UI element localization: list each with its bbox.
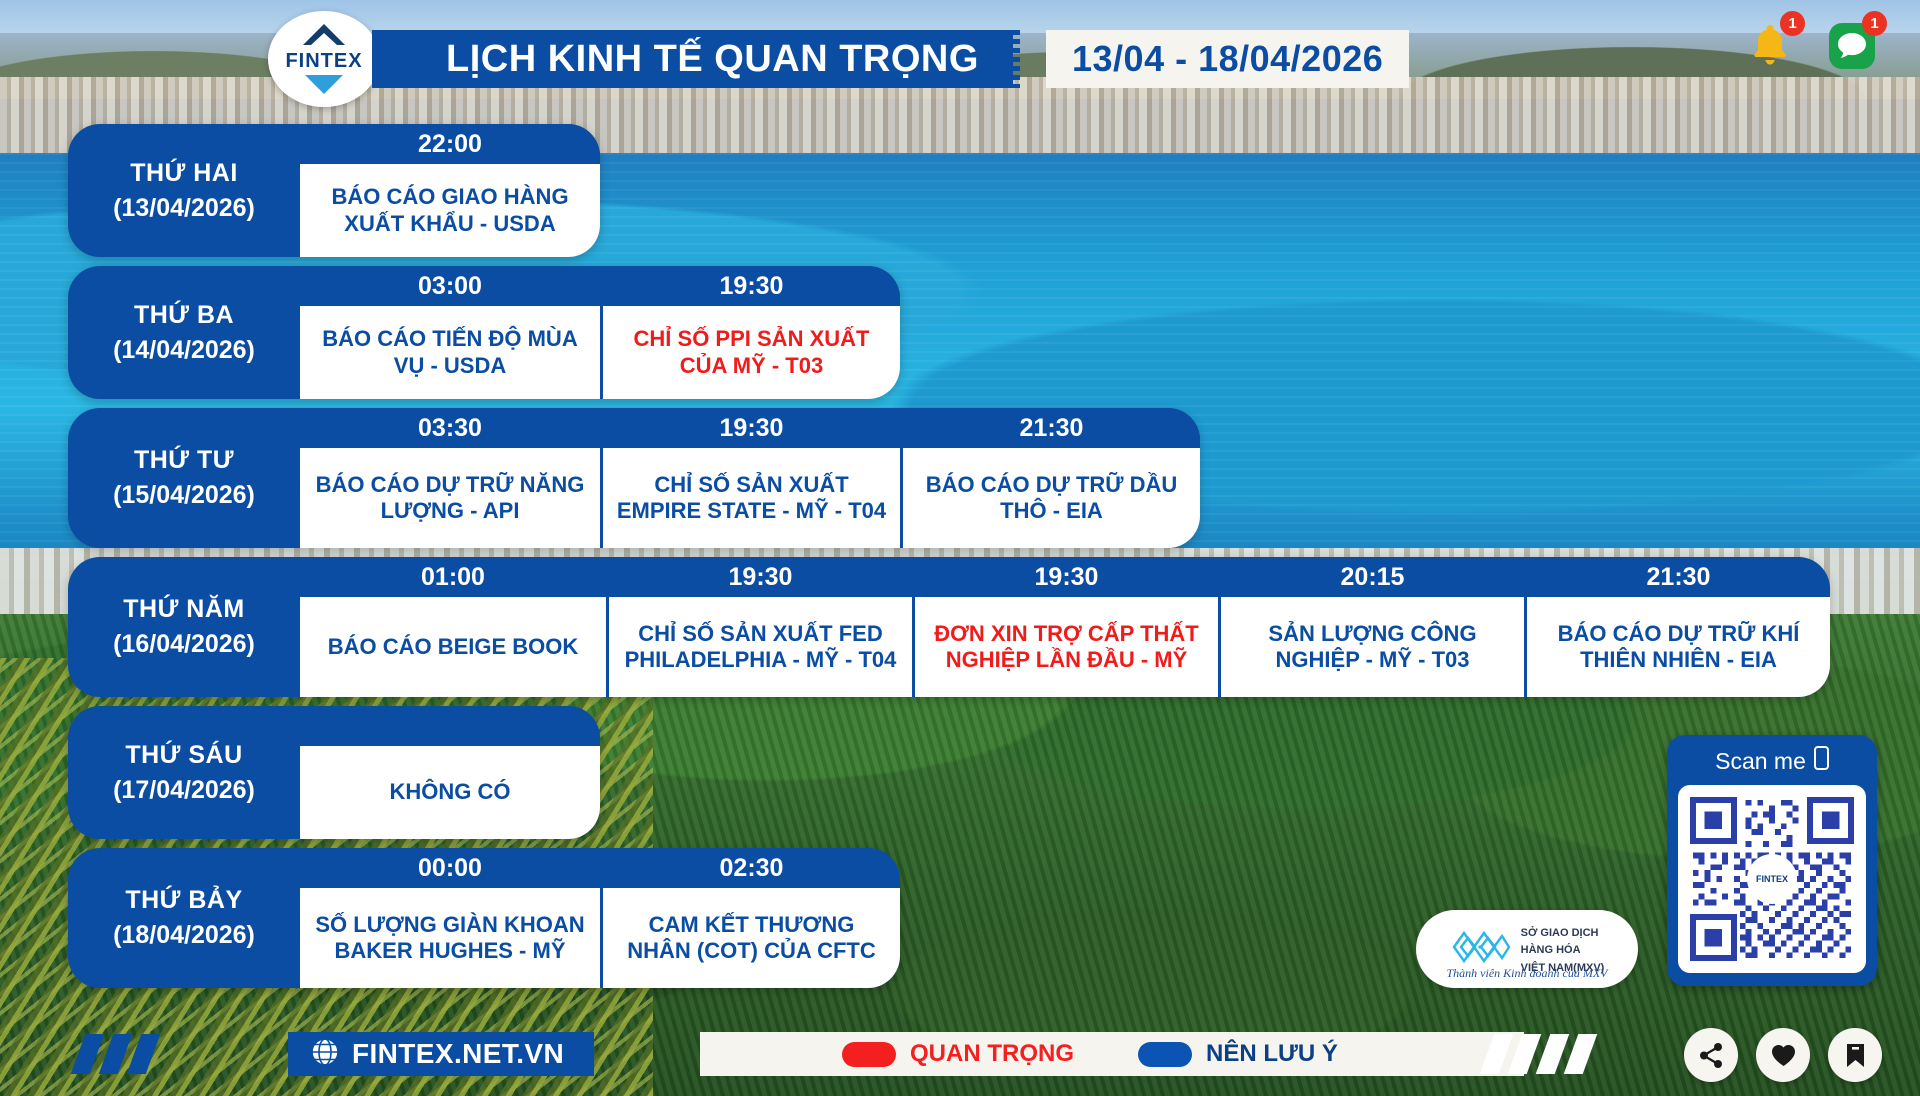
day-events: 03:00 BÁO CÁO TIẾN ĐỘ MÙA VỤ - USDA 19:3… (300, 266, 900, 399)
event-card[interactable]: 21:30 BÁO CÁO DỰ TRỮ DẦU THÔ - EIA (900, 408, 1200, 548)
event-card[interactable]: 03:00 BÁO CÁO TIẾN ĐỘ MÙA VỤ - USDA (300, 266, 600, 399)
economic-calendar-poster: FINTEX LỊCH KINH TẾ QUAN TRỌNG 13/04 - 1… (0, 0, 1920, 1096)
day-date: (17/04/2026) (113, 776, 255, 805)
event-title: BÁO CÁO DỰ TRỮ DẦU THÔ - EIA (903, 448, 1200, 548)
legend-item-notable: NÊN LƯU Ý (1138, 1040, 1338, 1068)
event-card[interactable]: 19:30 CHỈ SỐ SẢN XUẤT EMPIRE STATE - MỸ … (600, 408, 900, 548)
day-name: THỨ NĂM (123, 595, 244, 624)
day-name: THỨ BẢY (125, 886, 242, 915)
legend-swatch-red (842, 1042, 896, 1067)
day-events: 03:30 BÁO CÁO DỰ TRỮ NĂNG LƯỢNG - API 19… (300, 408, 1200, 548)
event-title: BÁO CÁO TIẾN ĐỘ MÙA VỤ - USDA (300, 306, 600, 399)
legend-label-notable: NÊN LƯU Ý (1206, 1040, 1338, 1068)
event-time: 21:30 (1527, 557, 1830, 597)
event-card[interactable]: 20:15 SẢN LƯỢNG CÔNG NGHIỆP - MỸ - T03 (1218, 557, 1524, 697)
day-events: 22:00 BÁO CÁO GIAO HÀNG XUẤT KHẨU - USDA (300, 124, 600, 257)
event-card[interactable]: 22:00 BÁO CÁO GIAO HÀNG XUẤT KHẨU - USDA (300, 124, 600, 257)
bell-icon[interactable]: 1 (1742, 18, 1798, 74)
event-card[interactable]: 00:00 SỐ LƯỢNG GIÀN KHOAN BAKER HUGHES -… (300, 848, 600, 988)
event-card[interactable]: 01:00 BÁO CÁO BEIGE BOOK (300, 557, 606, 697)
legend-item-important: QUAN TRỌNG (842, 1040, 1074, 1068)
day-date: (15/04/2026) (113, 481, 255, 510)
event-card[interactable]: 02:30 CAM KẾT THƯƠNG NHÂN (COT) CỦA CFTC (600, 848, 900, 988)
event-card[interactable]: 21:30 BÁO CÁO DỰ TRỮ KHÍ THIÊN NHIÊN - E… (1524, 557, 1830, 697)
event-time: 03:30 (300, 408, 600, 448)
bell-badge-count: 1 (1780, 11, 1805, 36)
event-title: KHÔNG CÓ (300, 746, 600, 839)
message-badge-count: 1 (1862, 11, 1887, 36)
day-events: 00:00 SỐ LƯỢNG GIÀN KHOAN BAKER HUGHES -… (300, 848, 900, 988)
day-row-body: THỨ BA (14/04/2026) 03:00 BÁO CÁO TIẾN Đ… (68, 266, 900, 399)
day-label: THỨ HAI (13/04/2026) (68, 124, 300, 257)
event-time: 00:00 (300, 848, 600, 888)
day-label: THỨ TƯ (15/04/2026) (68, 408, 300, 548)
event-title: CHỈ SỐ SẢN XUẤT FED PHILADELPHIA - MỸ - … (609, 597, 912, 697)
event-title: SẢN LƯỢNG CÔNG NGHIỆP - MỸ - T03 (1221, 597, 1524, 697)
top-icons: 1 1 (1742, 18, 1880, 74)
event-title: CAM KẾT THƯƠNG NHÂN (COT) CỦA CFTC (603, 888, 900, 988)
event-time: 21:30 (903, 408, 1200, 448)
event-time: 20:15 (1221, 557, 1524, 597)
day-label: THỨ SÁU (17/04/2026) (68, 706, 300, 839)
event-title: CHỈ SỐ SẢN XUẤT EMPIRE STATE - MỸ - T04 (603, 448, 900, 548)
day-date: (14/04/2026) (113, 336, 255, 365)
social-actions (1684, 1028, 1882, 1082)
day-name: THỨ BA (134, 301, 234, 330)
mxv-line-2: HÀNG HÓA (1521, 944, 1581, 956)
website-band[interactable]: FINTEX.NET.VN (288, 1032, 594, 1076)
fintex-logo-badge: FINTEX (268, 11, 380, 107)
day-name: THỨ TƯ (134, 446, 234, 475)
day-row-body: THỨ HAI (13/04/2026) 22:00 BÁO CÁO GIAO … (68, 124, 600, 257)
event-title: BÁO CÁO DỰ TRỮ KHÍ THIÊN NHIÊN - EIA (1527, 597, 1830, 697)
event-card-important[interactable]: 19:30 ĐƠN XIN TRỢ CẤP THẤT NGHIỆP LẦN ĐẦ… (912, 557, 1218, 697)
legend-swatch-blue (1138, 1042, 1192, 1067)
day-row: THỨ TƯ (15/04/2026) 03:30 BÁO CÁO DỰ TRỮ… (68, 408, 1830, 548)
event-time: 01:00 (300, 557, 606, 597)
decorative-stripes-left (78, 1034, 153, 1074)
day-row: THỨ SÁU (17/04/2026) KHÔNG CÓ (68, 706, 1830, 839)
event-time: 19:30 (915, 557, 1218, 597)
decorative-stripes-right (1487, 1034, 1590, 1074)
share-icon[interactable] (1684, 1028, 1738, 1082)
day-label: THỨ BA (14/04/2026) (68, 266, 300, 399)
day-date: (13/04/2026) (113, 194, 255, 223)
legend: QUAN TRỌNG NÊN LƯU Ý (700, 1032, 1524, 1076)
day-row-body: THỨ SÁU (17/04/2026) KHÔNG CÓ (68, 706, 600, 839)
qr-code[interactable]: FINTEX (1678, 785, 1866, 973)
day-row: THỨ NĂM (16/04/2026) 01:00 BÁO CÁO BEIGE… (68, 557, 1830, 697)
day-label: THỨ NĂM (16/04/2026) (68, 557, 300, 697)
website-url: FINTEX.NET.VN (352, 1038, 564, 1070)
calendar-rows: THỨ HAI (13/04/2026) 22:00 BÁO CÁO GIAO … (68, 124, 1830, 997)
scan-me-title: Scan me (1678, 746, 1866, 776)
day-name: THỨ SÁU (125, 741, 242, 770)
fintex-wordmark: FINTEX (285, 50, 362, 73)
fintex-chevron-logo (301, 23, 347, 49)
day-name: THỨ HAI (130, 159, 238, 188)
day-row: THỨ HAI (13/04/2026) 22:00 BÁO CÁO GIAO … (68, 124, 1830, 257)
event-time: 19:30 (609, 557, 912, 597)
day-row-body: THỨ BẢY (18/04/2026) 00:00 SỐ LƯỢNG GIÀN… (68, 848, 900, 988)
event-time: 22:00 (300, 124, 600, 164)
day-row-body: THỨ NĂM (16/04/2026) 01:00 BÁO CÁO BEIGE… (68, 557, 1830, 697)
event-card[interactable]: 19:30 CHỈ SỐ SẢN XUẤT FED PHILADELPHIA -… (606, 557, 912, 697)
day-date: (18/04/2026) (113, 921, 255, 950)
event-time: 19:30 (603, 266, 900, 306)
event-title: BÁO CÁO DỰ TRỮ NĂNG LƯỢNG - API (300, 448, 600, 548)
event-title: ĐƠN XIN TRỢ CẤP THẤT NGHIỆP LẦN ĐẦU - MỸ (915, 597, 1218, 697)
day-label: THỨ BẢY (18/04/2026) (68, 848, 300, 988)
heart-icon[interactable] (1756, 1028, 1810, 1082)
message-icon[interactable]: 1 (1824, 18, 1880, 74)
event-time (300, 706, 600, 746)
event-title: BÁO CÁO GIAO HÀNG XUẤT KHẨU - USDA (300, 164, 600, 257)
event-time: 03:00 (300, 266, 600, 306)
event-title: BÁO CÁO BEIGE BOOK (300, 597, 606, 697)
day-row: THỨ BA (14/04/2026) 03:00 BÁO CÁO TIẾN Đ… (68, 266, 1830, 399)
event-card-empty: KHÔNG CÓ (300, 706, 600, 839)
day-events: KHÔNG CÓ (300, 706, 600, 839)
scan-me-label: Scan me (1715, 748, 1806, 775)
page-title: LỊCH KINH TẾ QUAN TRỌNG (372, 30, 1013, 88)
scan-me-card[interactable]: Scan me (1667, 735, 1877, 986)
legend-label-important: QUAN TRỌNG (910, 1040, 1074, 1068)
qr-center-logo: FINTEX (1749, 856, 1795, 902)
event-title: SỐ LƯỢNG GIÀN KHOAN BAKER HUGHES - MỸ (300, 888, 600, 988)
event-card[interactable]: 03:30 BÁO CÁO DỰ TRỮ NĂNG LƯỢNG - API (300, 408, 600, 548)
mxv-member-badge: SỞ GIAO DỊCH HÀNG HÓA VIỆT NAM(MXV) Thàn… (1416, 910, 1638, 988)
mxv-logo-icon (1450, 927, 1512, 972)
event-time: 19:30 (603, 408, 900, 448)
day-row-body: THỨ TƯ (15/04/2026) 03:30 BÁO CÁO DỰ TRỮ… (68, 408, 1200, 548)
event-title: CHỈ SỐ PPI SẢN XUẤT CỦA MỸ - T03 (603, 306, 900, 399)
mxv-caption: Thành viên Kinh doanh của MXV (1416, 966, 1638, 981)
mxv-line-1: SỞ GIAO DỊCH (1521, 927, 1599, 939)
date-range: 13/04 - 18/04/2026 (1046, 30, 1409, 88)
event-card-important[interactable]: 19:30 CHỈ SỐ PPI SẢN XUẤT CỦA MỸ - T03 (600, 266, 900, 399)
globe-icon (310, 1037, 340, 1072)
fintex-chevron-bottom (301, 74, 347, 96)
bookmark-icon[interactable] (1828, 1028, 1882, 1082)
day-date: (16/04/2026) (113, 630, 255, 659)
phone-icon (1814, 746, 1829, 776)
event-time: 02:30 (603, 848, 900, 888)
day-events: 01:00 BÁO CÁO BEIGE BOOK 19:30 CHỈ SỐ SẢ… (300, 557, 1830, 697)
